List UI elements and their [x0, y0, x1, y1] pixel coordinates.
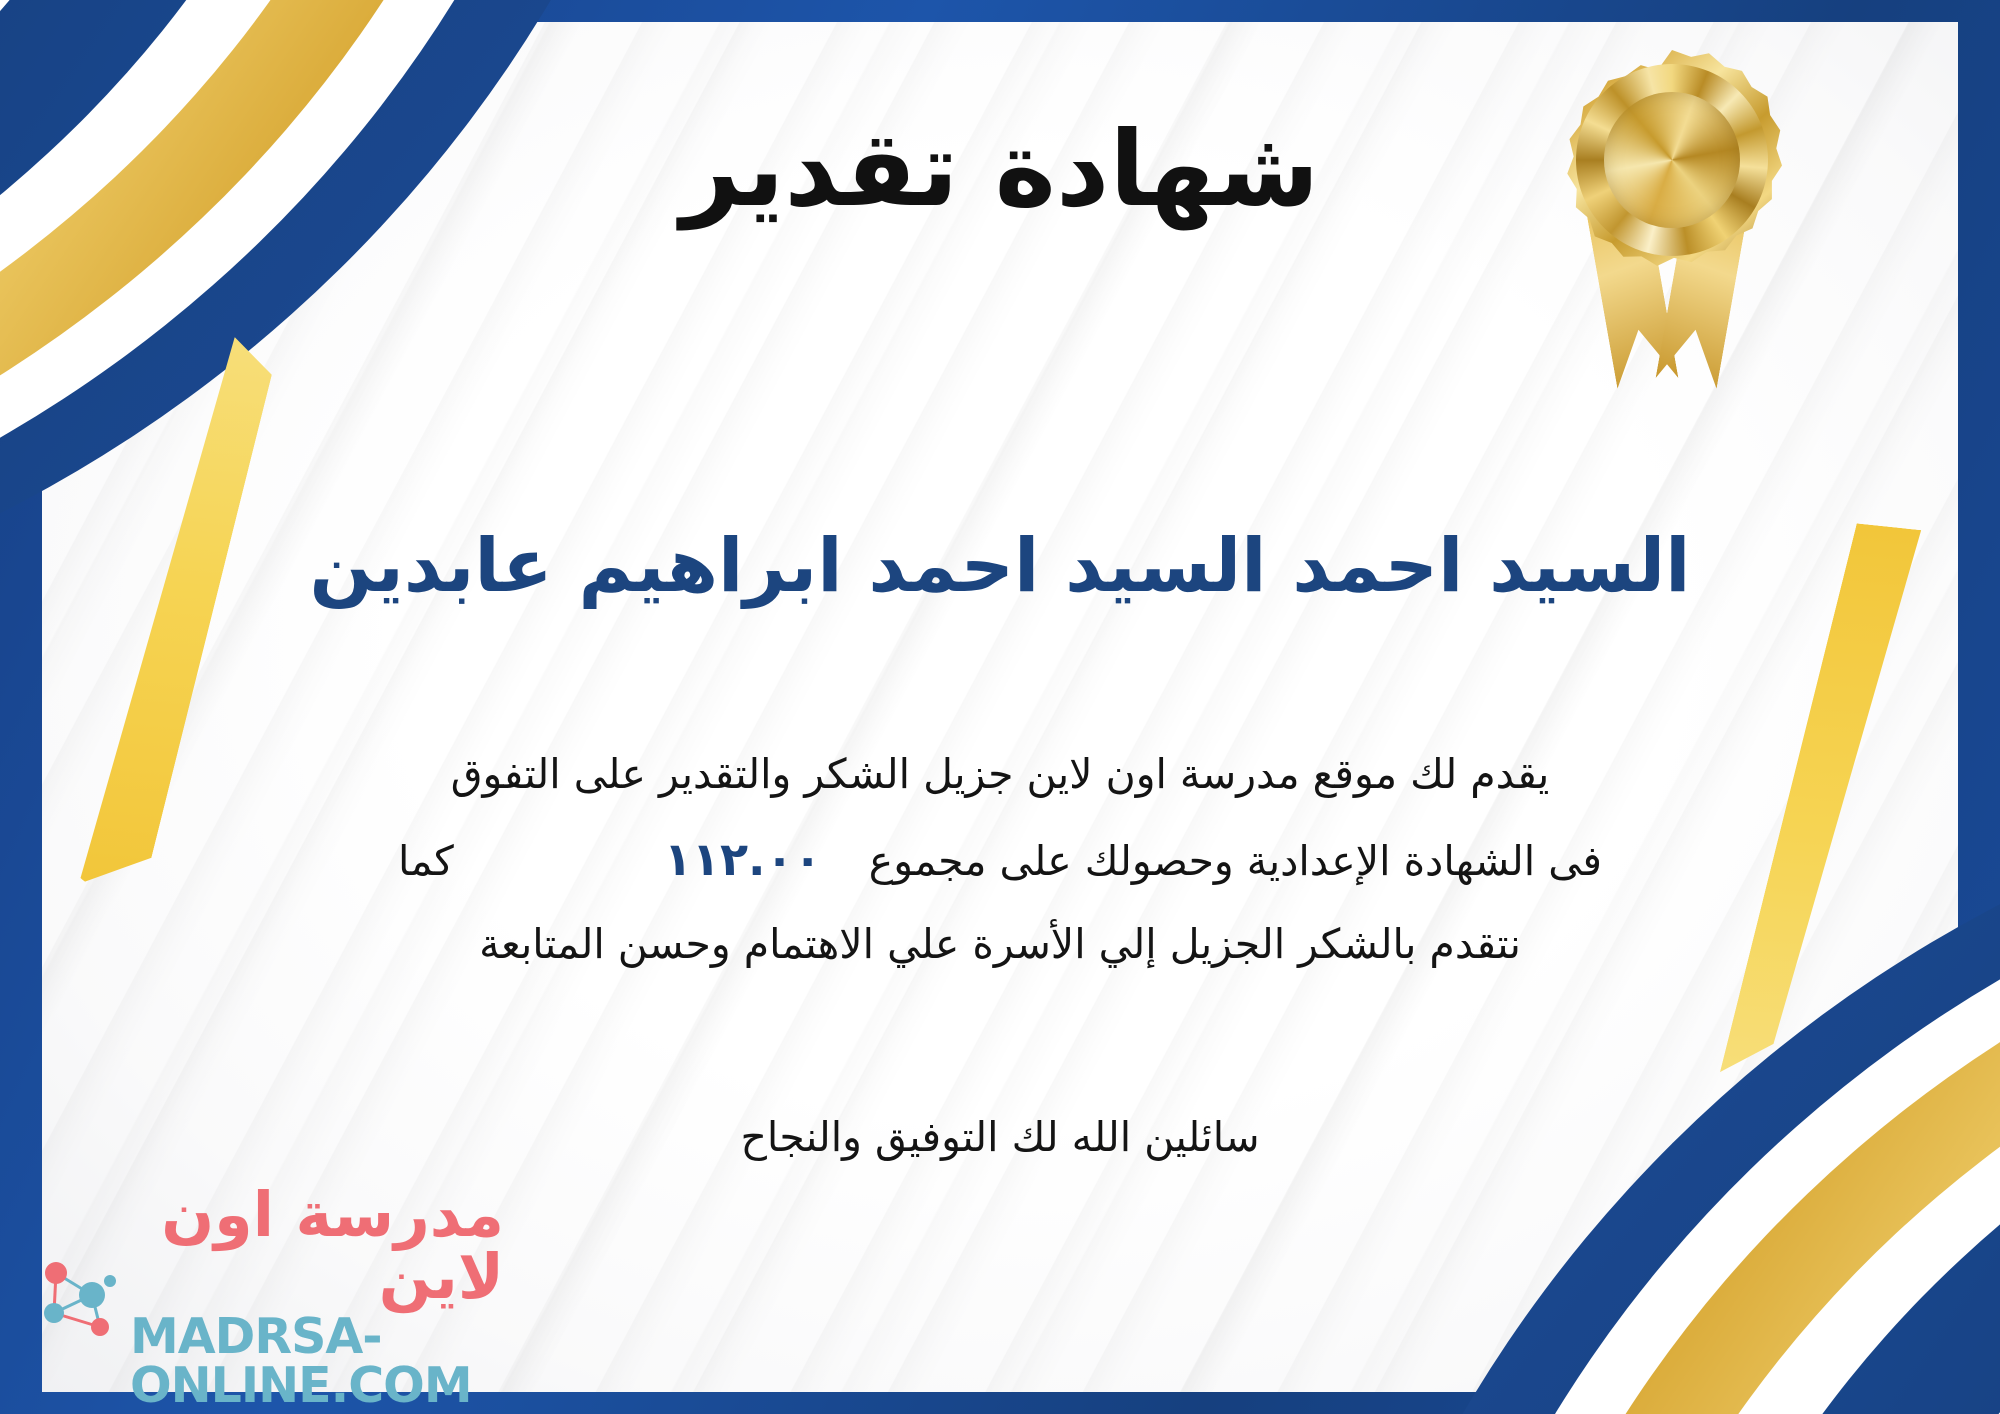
body-line-2-left: كما: [398, 837, 454, 885]
certificate-title: شهادة تقدير: [0, 108, 2000, 231]
body-line-2-right: فى الشهادة الإعدادية وحصولك على مجموع: [869, 837, 1602, 885]
logo-network-icon: [34, 1251, 120, 1343]
logo-text-block: مدرسة اون لاين MADRSA-ONLINE.COM: [130, 1184, 504, 1410]
body-line-1: يقدم لك موقع مدرسة اون لاين جزيل الشكر و…: [250, 735, 1750, 815]
recipient-name: السيد احمد السيد احمد ابراهيم عابدين: [0, 520, 2000, 613]
total-score-value: ١١٢.٠٠: [630, 832, 856, 886]
body-line-2: فى الشهادة الإعدادية وحصولك على مجموع ١١…: [250, 815, 1750, 905]
closing-wish: سائلين الله لك التوفيق والنجاح: [0, 1105, 2000, 1171]
site-logo[interactable]: مدرسة اون لاين MADRSA-ONLINE.COM: [34, 1222, 504, 1372]
certificate-page: شهادة تقدير السيد احمد السيد احمد ابراهي…: [0, 0, 2000, 1414]
body-line-3: نتقدم بالشكر الجزيل إلي الأسرة علي الاهت…: [250, 905, 1750, 985]
logo-arabic-name: مدرسة اون لاين: [130, 1184, 504, 1308]
certificate-body: يقدم لك موقع مدرسة اون لاين جزيل الشكر و…: [250, 735, 1750, 985]
logo-domain-name: MADRSA-ONLINE.COM: [130, 1312, 504, 1410]
